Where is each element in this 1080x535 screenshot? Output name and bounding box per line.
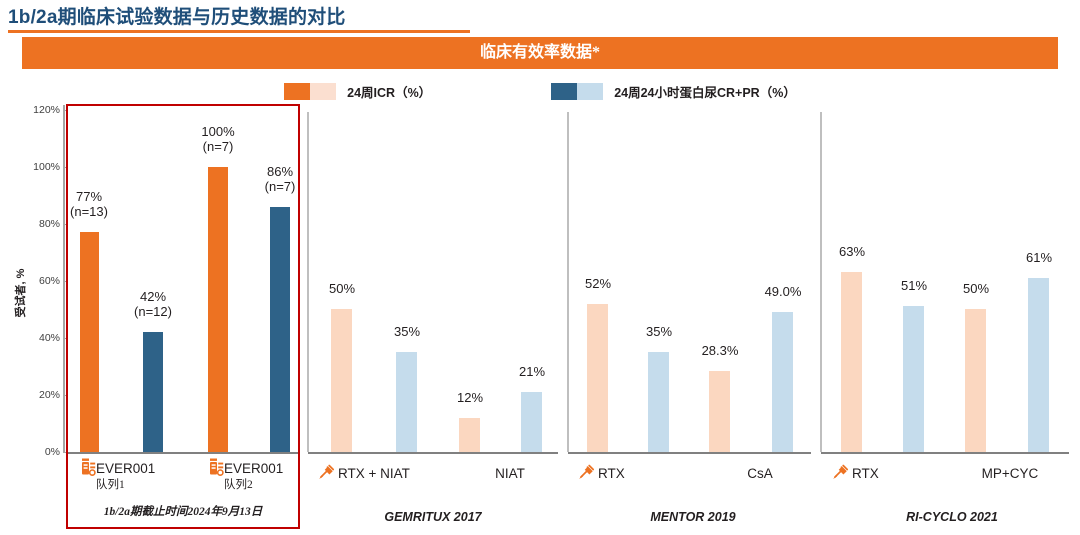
bar-ever001-cohort1-icr[interactable]	[80, 232, 99, 452]
vial-icon	[209, 458, 225, 479]
syringe-icon	[578, 463, 595, 480]
n-text: (n=13)	[44, 205, 134, 220]
category-label-mpcyc: MP+CYC	[960, 466, 1060, 481]
category-main: EVER001	[224, 461, 283, 476]
category-sub: 队列1	[96, 476, 216, 492]
y-axis-line	[63, 105, 65, 453]
bar-ever001-cohort2-icr[interactable]	[208, 167, 228, 452]
value-text: 52%	[585, 276, 611, 291]
study-name-mentor: MENTOR 2019	[593, 510, 793, 524]
value-text: 42%	[140, 289, 166, 304]
bar-csa-icr[interactable]	[709, 371, 730, 452]
bar-rtx-ricyclo-proteinuria[interactable]	[903, 306, 924, 452]
n-text: (n=7)	[173, 140, 263, 155]
category-main: MP+CYC	[982, 466, 1039, 481]
value-text: 35%	[646, 324, 672, 339]
panel-baseline-ricyclo	[821, 452, 1069, 454]
bar-rtx-ricyclo-icr[interactable]	[841, 272, 862, 452]
panel-baseline-mentor	[568, 452, 811, 454]
value-text: 49.0%	[765, 284, 802, 299]
bar-label-niat-icr: 12%	[425, 391, 515, 406]
bar-niat-proteinuria[interactable]	[521, 392, 542, 452]
bar-label-mpcyc-icr: 50%	[931, 282, 1021, 297]
syringe-icon-svg	[832, 463, 849, 480]
bar-label-rtx-mentor-proteinuria: 35%	[614, 325, 704, 340]
syringe-icon-svg	[578, 463, 595, 480]
panel-baseline-gemritux	[308, 452, 558, 454]
bar-mpcyc-proteinuria[interactable]	[1028, 278, 1049, 452]
bar-rtx-niat-proteinuria[interactable]	[396, 352, 417, 452]
vial-icon-svg	[209, 458, 225, 479]
category-main: CsA	[747, 466, 773, 481]
y-tick-100: 100%	[16, 161, 60, 173]
bar-label-rtx-niat-icr: 50%	[297, 282, 387, 297]
category-main: NIAT	[495, 466, 525, 481]
bar-label-rtx-ricyclo-icr: 63%	[807, 245, 897, 260]
category-label-rtx-mentor: RTX	[598, 466, 698, 481]
bar-label-ever001-cohort2-proteinuria: 86% (n=7)	[235, 165, 325, 195]
study-name-ricyclo: RI-CYCLO 2021	[852, 510, 1052, 524]
value-text: 61%	[1026, 250, 1052, 265]
panel-divider-3	[820, 112, 822, 452]
bar-label-ever001-cohort1-icr: 77% (n=13)	[44, 190, 134, 220]
syringe-icon	[318, 463, 335, 480]
category-main: EVER001	[96, 461, 155, 476]
chart-plot-area: 120% 100% 80% 60% 40% 20% 0% 受试者, % 77% …	[0, 0, 1080, 535]
y-tick-20: 20%	[16, 389, 60, 401]
value-text: 63%	[839, 244, 865, 259]
y-tick-40: 40%	[16, 332, 60, 344]
value-text: 28.3%	[702, 343, 739, 358]
bar-niat-icr[interactable]	[459, 418, 480, 452]
category-main: RTX	[852, 466, 879, 481]
bar-label-ever001-cohort1-proteinuria: 42% (n=12)	[108, 290, 198, 320]
value-text: 35%	[394, 324, 420, 339]
n-text: (n=7)	[235, 180, 325, 195]
y-tick-0: 0%	[16, 446, 60, 458]
value-text: 100%	[201, 124, 234, 139]
category-label-niat: NIAT	[460, 466, 560, 481]
category-label-rtx-niat: RTX + NIAT	[338, 466, 478, 481]
value-text: 21%	[519, 364, 545, 379]
bar-label-niat-proteinuria: 21%	[487, 365, 577, 380]
value-text: 86%	[267, 164, 293, 179]
value-text: 50%	[963, 281, 989, 296]
y-axis-title: 受试者, %	[12, 253, 28, 333]
bar-label-mpcyc-proteinuria: 61%	[994, 251, 1080, 266]
value-text: 12%	[457, 390, 483, 405]
bar-rtx-niat-icr[interactable]	[331, 309, 352, 452]
bar-ever001-cohort2-proteinuria[interactable]	[270, 207, 290, 452]
bar-label-csa-icr: 28.3%	[675, 344, 765, 359]
value-text: 51%	[901, 278, 927, 293]
bar-label-rtx-niat-proteinuria: 35%	[362, 325, 452, 340]
bar-mpcyc-icr[interactable]	[965, 309, 986, 452]
bar-label-csa-proteinuria: 49.0%	[738, 285, 828, 300]
bar-csa-proteinuria[interactable]	[772, 312, 793, 452]
category-main: RTX + NIAT	[338, 466, 410, 481]
vial-icon	[81, 458, 97, 479]
category-label-ever001-cohort1: EVER001 队列1	[96, 461, 216, 492]
category-label-csa: CsA	[710, 466, 810, 481]
panel-baseline-trial	[68, 452, 298, 454]
study-name-gemritux: GEMRITUX 2017	[333, 510, 533, 524]
category-main: RTX	[598, 466, 625, 481]
bar-label-ever001-cohort2-icr: 100% (n=7)	[173, 125, 263, 155]
value-text: 77%	[76, 189, 102, 204]
y-tick-120: 120%	[16, 104, 60, 116]
category-label-rtx-ricyclo: RTX	[852, 466, 952, 481]
bar-ever001-cohort1-proteinuria[interactable]	[143, 332, 163, 452]
syringe-icon-svg	[318, 463, 335, 480]
bar-label-rtx-mentor-icr: 52%	[553, 277, 643, 292]
value-text: 50%	[329, 281, 355, 296]
syringe-icon	[832, 463, 849, 480]
bar-rtx-mentor-proteinuria[interactable]	[648, 352, 669, 452]
cutoff-footnote: 1b/2a期截止时间2024年9月13日	[70, 503, 296, 519]
vial-icon-svg	[81, 458, 97, 479]
n-text: (n=12)	[108, 305, 198, 320]
bar-rtx-mentor-icr[interactable]	[587, 304, 608, 452]
